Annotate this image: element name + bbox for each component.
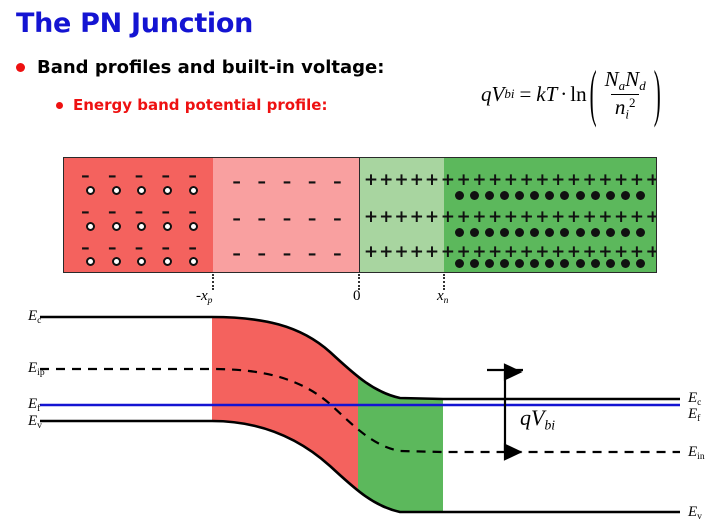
band-label-left-eip-symbol: E [28, 360, 37, 376]
energy-band-diagram [0, 0, 720, 528]
slide-canvas: The PN Junction Band profiles and built-… [0, 0, 720, 528]
band-label-right-ef-subscript: f [697, 413, 700, 424]
band-label-left-ev-symbol: E [28, 413, 37, 429]
band-label-left-ec: Ec [28, 308, 41, 326]
band-label-left-eip-subscript: ip [37, 367, 44, 378]
band-label-left-eip: Eip [28, 360, 45, 378]
band-label-left-ef-symbol: E [28, 396, 37, 412]
band-label-right-ev: Ev [688, 504, 702, 522]
band-label-left-ec-symbol: E [28, 308, 37, 324]
band-label-left-ec-subscript: c [37, 315, 41, 326]
band-label-right-ein-subscript: in [697, 451, 704, 462]
band-label-right-ef-symbol: E [688, 406, 697, 422]
band-label-right-ein-symbol: E [688, 444, 697, 460]
qvbi-q-symbol: q [520, 405, 531, 430]
band-label-right-ev-symbol: E [688, 504, 697, 520]
qvbi-V-symbol: V [531, 405, 544, 430]
band-label-right-ein: Ein [688, 444, 705, 462]
band-label-left-ev-subscript: v [37, 420, 42, 431]
band-label-right-ef: Ef [688, 406, 700, 424]
qvbi-annotation-label: qVbi [520, 405, 555, 433]
band-label-right-ev-subscript: v [697, 511, 702, 522]
band-label-right-ec-symbol: E [688, 390, 697, 406]
band-label-left-ev: Ev [28, 413, 42, 431]
band-label-left-ef: Ef [28, 396, 40, 414]
qvbi-subscript: bi [544, 417, 555, 432]
